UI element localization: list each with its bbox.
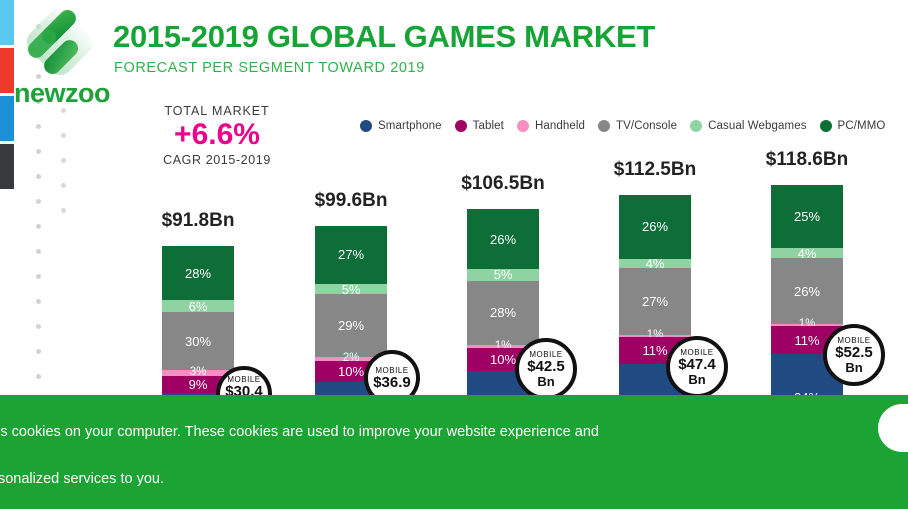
bar-segment-pc-mmo[interactable]: 28% [162, 246, 234, 300]
mobile-revenue-badge: MOBILE$47.4Bn [666, 336, 728, 398]
bar-segment-label: 5% [494, 268, 513, 281]
bar-segment-tv-console[interactable]: 29% [315, 294, 387, 356]
bar-total-label: $106.5Bn [457, 173, 549, 195]
bar-segment-label: 27% [338, 248, 364, 261]
bar-segment-tv-console[interactable]: 28% [467, 281, 539, 346]
bar-segment-pc-mmo[interactable]: 27% [315, 226, 387, 284]
mobile-revenue-badge: MOBILE$52.5Bn [823, 324, 885, 386]
mobile-badge-value: $42.5 [527, 359, 565, 375]
infographic-page: newzoo 2015-2019 GLOBAL GAMES MARKET FOR… [0, 0, 908, 509]
mobile-badge-value: $47.4 [678, 357, 716, 373]
bar-segment-casual-webgames[interactable]: 4% [771, 248, 843, 258]
bar-segment-label: 10% [338, 365, 364, 378]
mobile-badge-unit: Bn [688, 373, 705, 387]
bar-segment-pc-mmo[interactable]: 25% [771, 185, 843, 248]
bar-segment-tv-console[interactable]: 27% [619, 268, 691, 334]
bar-segment-label: 6% [189, 300, 208, 313]
cookie-banner-line-1: te stores cookies on your computer. Thes… [0, 409, 852, 456]
mobile-badge-unit: Bn [845, 361, 862, 375]
cookie-consent-banner: te stores cookies on your computer. Thes… [0, 395, 908, 509]
bar-segment-label: 26% [794, 285, 820, 298]
cookie-accept-button[interactable] [878, 404, 908, 452]
bar-segment-label: 10% [490, 353, 516, 366]
bar-total-label: $118.6Bn [761, 149, 853, 171]
bar-segment-label: 26% [642, 220, 668, 233]
stacked-bar-chart: $91.8Bn28%6%30%3%9%24%$99.6Bn27%5%29%2%1… [0, 0, 908, 440]
bar-segment-label: 25% [794, 210, 820, 223]
bar-segment-tv-console[interactable]: 26% [771, 258, 843, 324]
mobile-badge-unit: Bn [537, 375, 554, 389]
bar-total-label: $112.5Bn [609, 159, 701, 181]
bar-segment-casual-webgames[interactable]: 6% [162, 300, 234, 312]
bar-segment-label: 11% [794, 334, 819, 347]
bar-segment-label: 26% [490, 233, 516, 246]
bar-segment-label: 11% [642, 344, 667, 357]
bar-segment-label: 28% [185, 267, 211, 280]
bar-segment-label: 9% [189, 378, 208, 391]
bar-segment-label: 27% [642, 295, 668, 308]
mobile-badge-value: $52.5 [835, 345, 873, 361]
bar-segment-casual-webgames[interactable]: 5% [315, 284, 387, 295]
bar-segment-tv-console[interactable]: 30% [162, 312, 234, 370]
bar-total-label: $99.6Bn [305, 190, 397, 212]
bar-segment-casual-webgames[interactable]: 5% [467, 269, 539, 281]
mobile-badge-value: $36.9 [373, 375, 411, 391]
bar-segment-label: 29% [338, 319, 364, 332]
bar-segment-label: 30% [185, 335, 211, 348]
bar-total-label: $91.8Bn [152, 210, 244, 232]
cookie-banner-line-2: ore personalized services to you. [0, 456, 852, 503]
mobile-revenue-badge: MOBILE$42.5Bn [515, 338, 577, 400]
bar-segment-casual-webgames[interactable]: 4% [619, 259, 691, 269]
bar-segment-label: 28% [490, 306, 516, 319]
bar-segment-pc-mmo[interactable]: 26% [467, 209, 539, 269]
cookie-banner-text: te stores cookies on your computer. Thes… [0, 409, 852, 503]
bar-segment-pc-mmo[interactable]: 26% [619, 195, 691, 259]
